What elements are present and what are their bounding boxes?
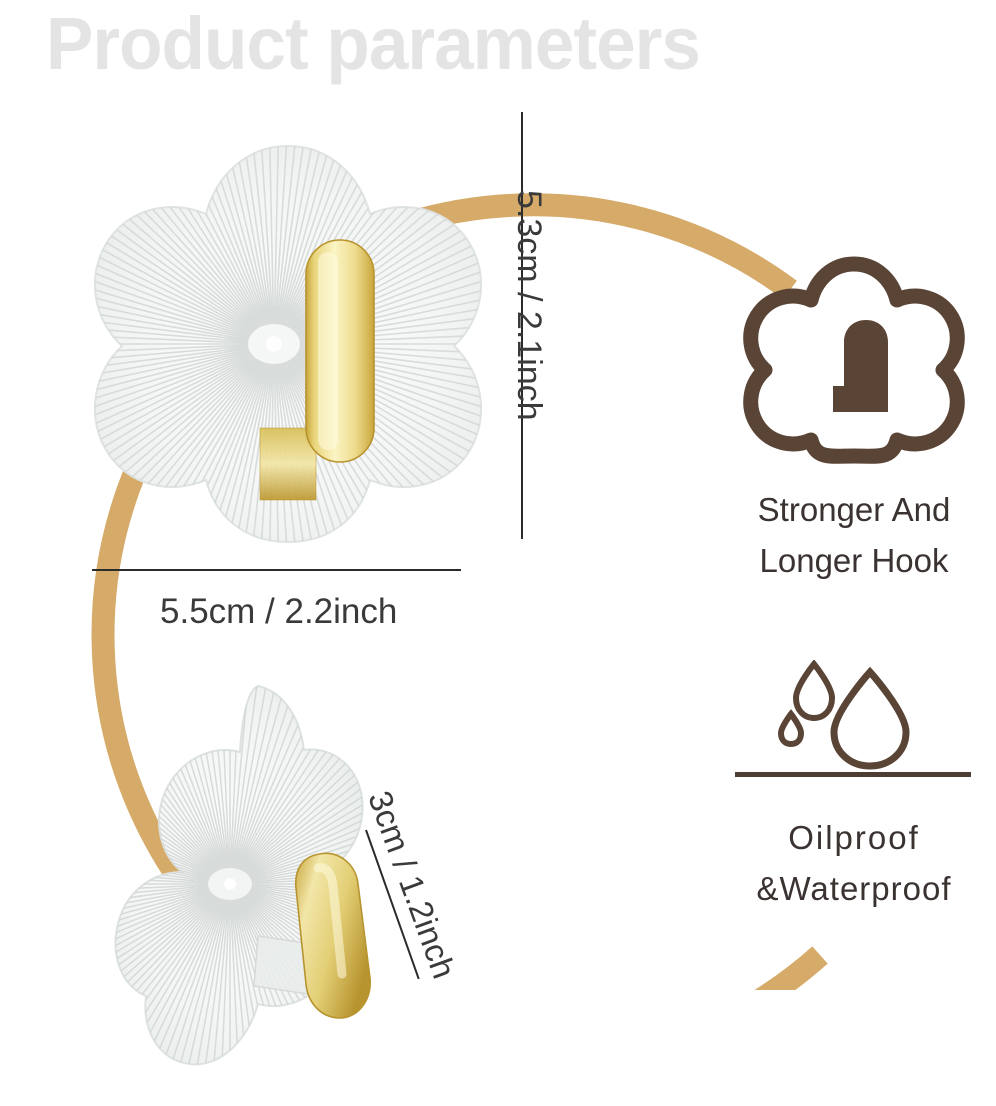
feature-line-1: Stronger And [712,484,996,535]
feature-line-2: &Waterproof [712,863,996,914]
feature-divider [735,772,971,777]
width-measure-label: 5.5cm / 2.2inch [160,592,397,632]
water-droplets-icon [754,660,954,770]
height-measure-label: 5.3cm / 2.1inch [509,190,548,421]
feature-waterproof-text: Oilproof &Waterproof [712,812,996,914]
page-title: Product parameters [46,2,958,86]
feature-oilproof-waterproof: Oilproof &Waterproof [712,660,996,914]
feature-stronger-hook-text: Stronger And Longer Hook [712,484,996,586]
feature-stronger-hook: Stronger And Longer Hook [712,252,996,586]
product-parameters-infographic: Product parameters [0,0,996,1106]
width-measure-line [92,569,461,571]
feature-line-2: Longer Hook [712,535,996,586]
product-photo-front-view [78,128,498,553]
feature-line-1: Oilproof [712,812,996,863]
flower-hook-icon [740,252,968,468]
product-photo-angled-view [108,678,438,1088]
